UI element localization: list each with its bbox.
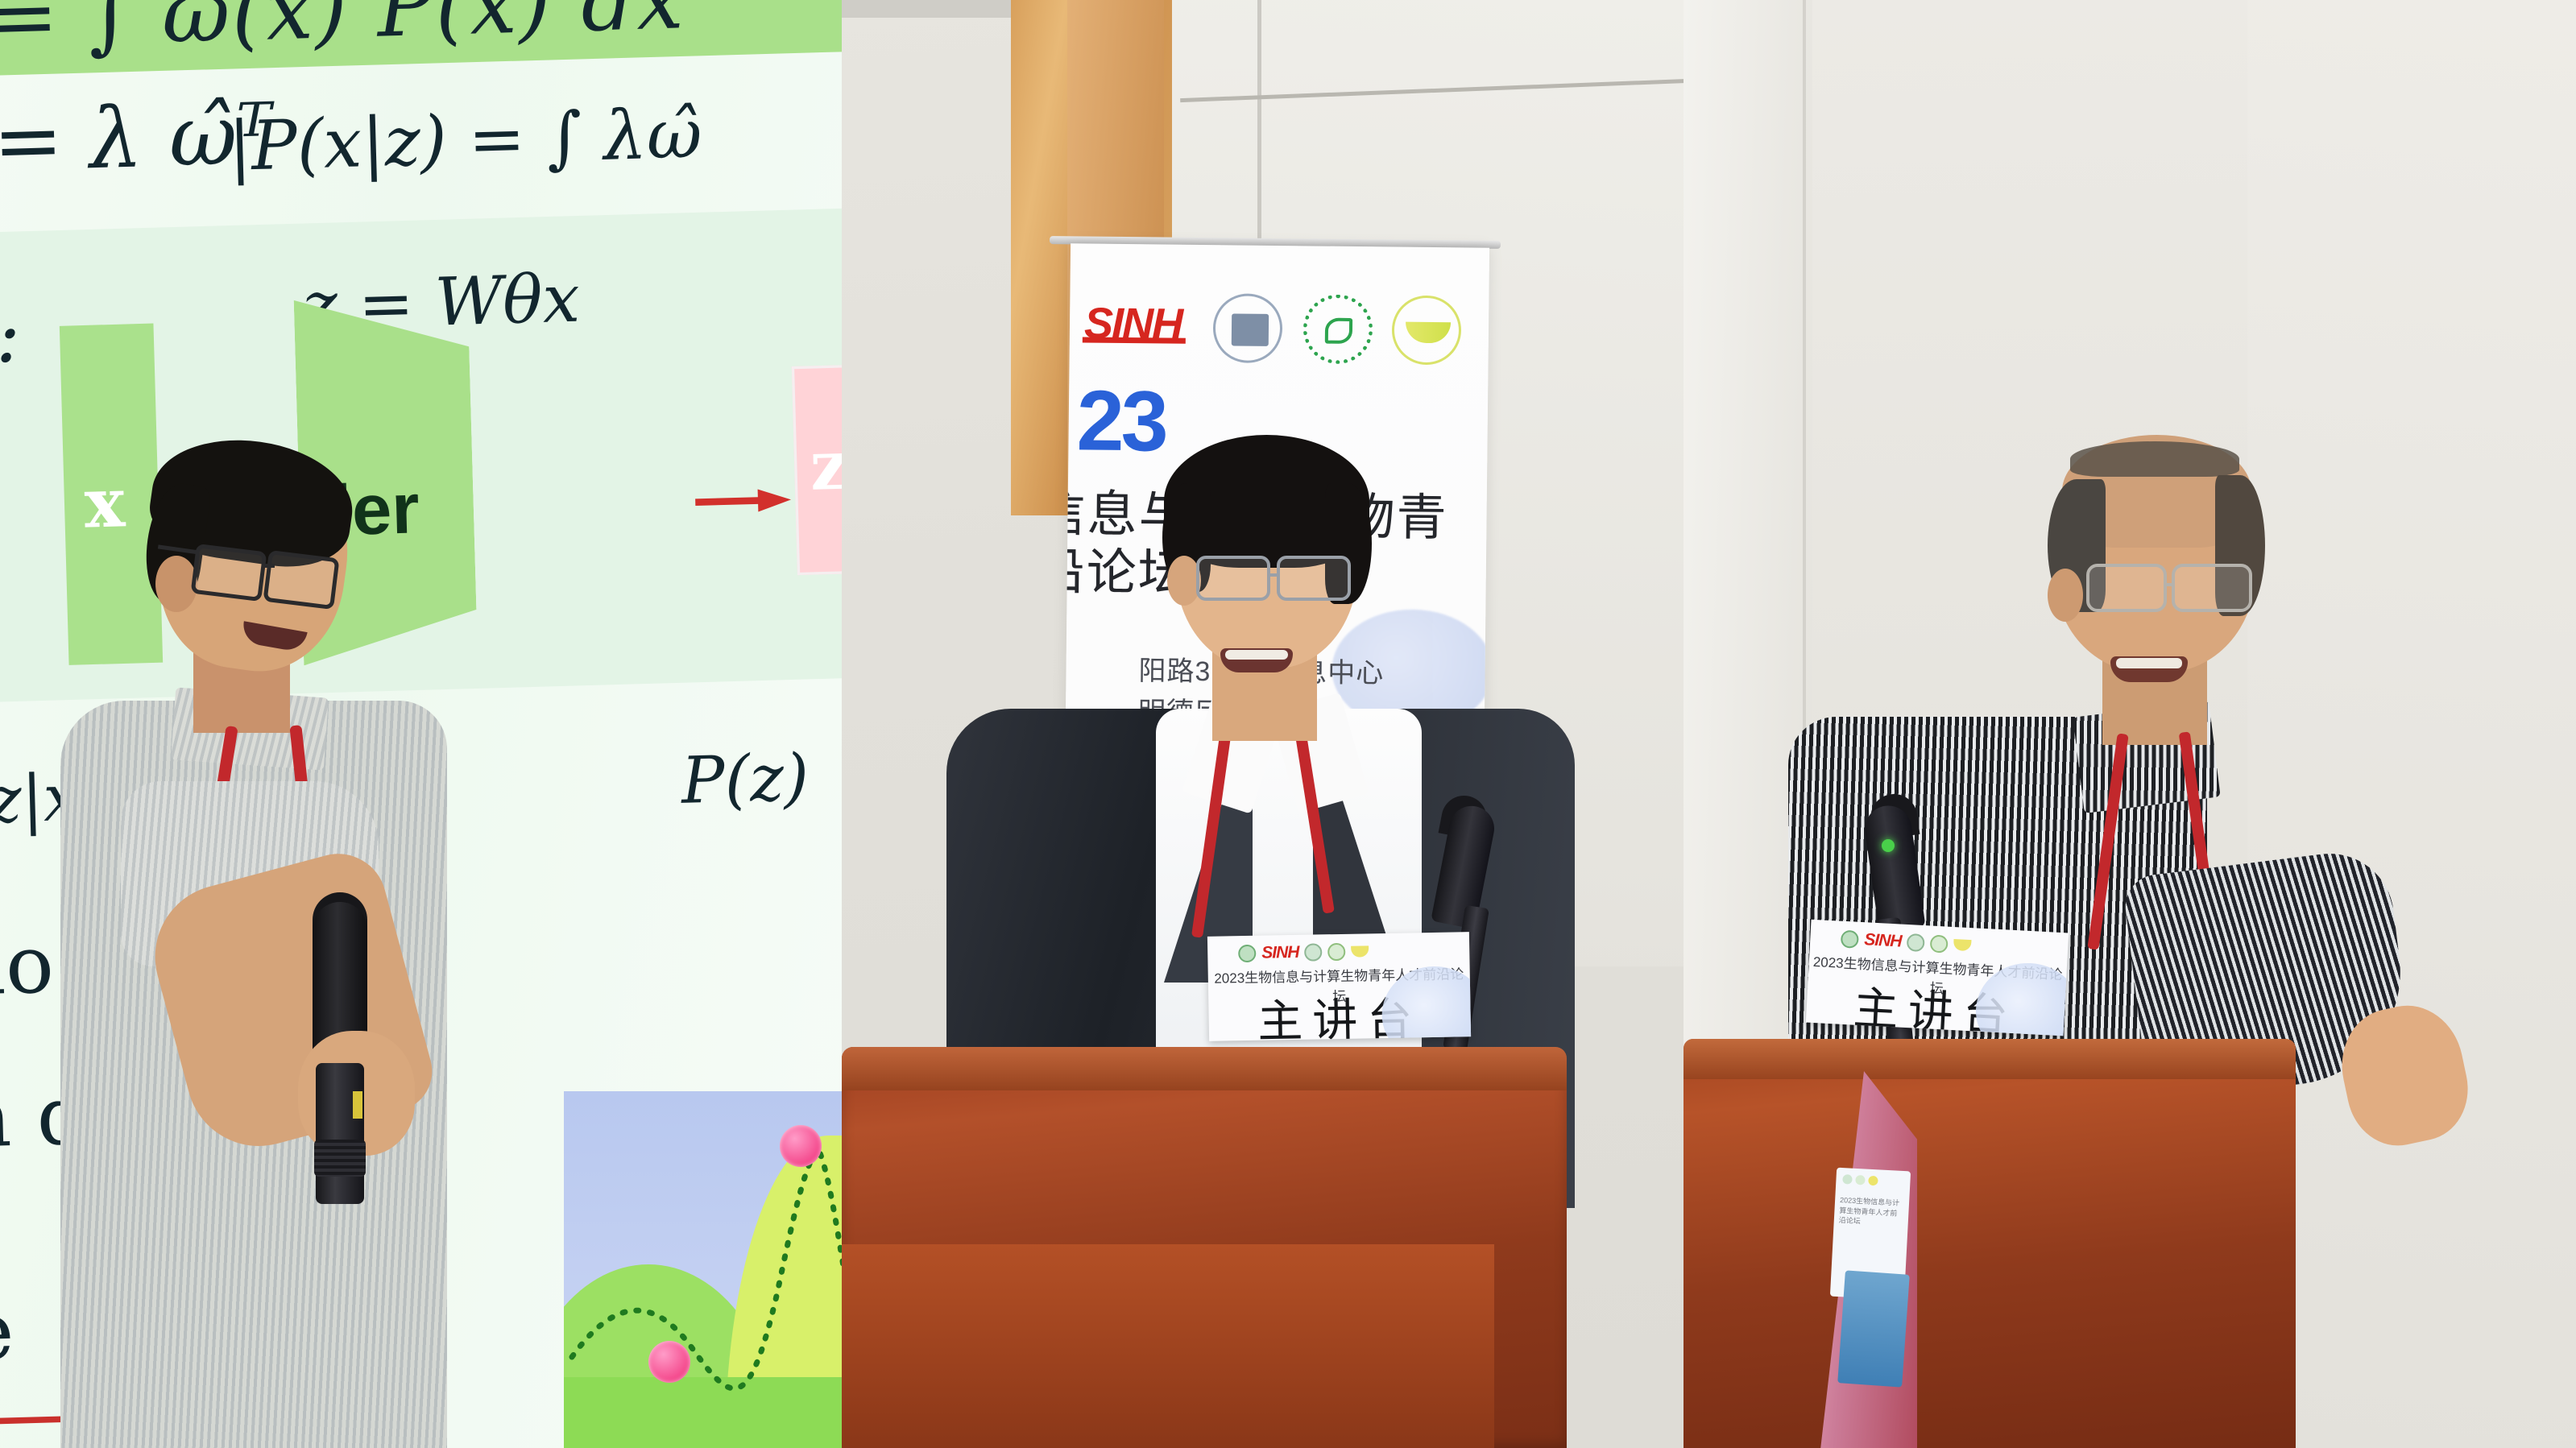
program-sheet-logos (1842, 1174, 1878, 1185)
podium-right (1684, 1039, 2296, 1448)
three-panel-photo-composite: x) = ∫ ω(x) P(x) dx (x) = λ ω̂ᵀ |P(x|z) … (0, 0, 2576, 1448)
institute-seal-logo (1213, 293, 1283, 363)
speaker-left (0, 451, 483, 1448)
panel-middle-speaker: SINH 23 信息与计算生物青 沿论坛 阳路319号信息中心 明德厅 生物信息… (842, 0, 1684, 1448)
slide-equation-pz: P(z) (681, 740, 810, 818)
banner-logo-row: SINH (1070, 274, 1489, 355)
speaker-middle-glasses-bridge (1269, 573, 1280, 577)
wall-far-right (2247, 0, 2576, 1448)
slide-arrow-right-icon-2 (695, 488, 792, 513)
speaker-middle-glasses-lens-left (1196, 556, 1270, 601)
podium-middle-top-edge (842, 1047, 1567, 1090)
microphone-grip-left (314, 1140, 366, 1177)
nameplate-logo-3-right (1930, 935, 1949, 954)
microphone-indicator-left (353, 1091, 362, 1119)
slide-model-label: el : (0, 292, 22, 383)
panel-right-speaker: SINH 2023生物信息与计算生物青年人才前沿论坛 主讲台 2023生物信息与… (1684, 0, 2576, 1448)
sinh-logo-underline (1083, 337, 1186, 343)
speaker-right-glasses-lens-right (2172, 564, 2252, 612)
nameplate-logo-row-middle: SINH (1238, 941, 1369, 964)
podium-right-top-edge (1684, 1039, 2296, 1079)
podium-right-tablet-screen (1837, 1270, 1910, 1387)
sjtu-green-logo (1303, 294, 1373, 364)
nameplate-seal-logo-right (1841, 930, 1859, 949)
microphone-body-left (316, 1063, 364, 1204)
landscape-marker-valley (648, 1341, 690, 1383)
speaker-left-glasses-lens-right (263, 550, 339, 610)
nameplate-sinh-logo-right: SINH (1864, 930, 1902, 951)
speaker-right-glasses-lens-left (2086, 564, 2167, 612)
speaker-right-teeth (2116, 658, 2182, 668)
slide-energy-landscape-figure (564, 1091, 842, 1448)
landscape-marker-peak (780, 1125, 822, 1167)
nameplate-sinh-logo: SINH (1261, 943, 1299, 963)
microphone-power-led-right (1882, 839, 1895, 852)
speaker-left-glasses-bridge (262, 564, 275, 568)
panel-left-speaker-with-slide: x) = ∫ ω(x) P(x) dx (x) = λ ω̂ᵀ |P(x|z) … (0, 0, 842, 1448)
banner-year: 23 (1076, 372, 1166, 470)
slide-latent-label: z (809, 426, 842, 507)
shanghai-leaf-logo (1392, 295, 1462, 365)
slide-equation-3: |P(x|z) = ∫ λω̂ (227, 95, 702, 187)
speaker-right-ear (2048, 569, 2083, 622)
wall-panel-seam (1257, 0, 1261, 266)
podium-middle-front-panel (842, 1244, 1494, 1448)
nameplate-logo-2-right (1907, 933, 1925, 952)
speaker-right-hair-top (2070, 441, 2239, 477)
nameplate-seal-logo (1238, 945, 1256, 962)
speaker-middle-glasses-lens-right (1277, 556, 1351, 601)
speaker-right-glasses-bridge (2164, 583, 2175, 586)
speaker-left-glasses-lens-left (191, 544, 267, 602)
podium-nameplate-right: SINH 2023生物信息与计算生物青年人才前沿论坛 主讲台 (1806, 920, 2069, 1036)
podium-nameplate-middle: SINH 2023生物信息与计算生物青年人才前沿论坛 主讲台 (1207, 932, 1471, 1041)
nameplate-leaf-logo-right (1953, 939, 1972, 951)
nameplate-logo-3 (1327, 943, 1345, 961)
program-sheet-text: 2023生物信息与计算生物青年人才前沿论坛 (1838, 1195, 1904, 1229)
nameplate-leaf-logo (1351, 945, 1369, 957)
speaker-middle-teeth (1225, 650, 1288, 660)
nameplate-logo-2 (1304, 943, 1322, 961)
